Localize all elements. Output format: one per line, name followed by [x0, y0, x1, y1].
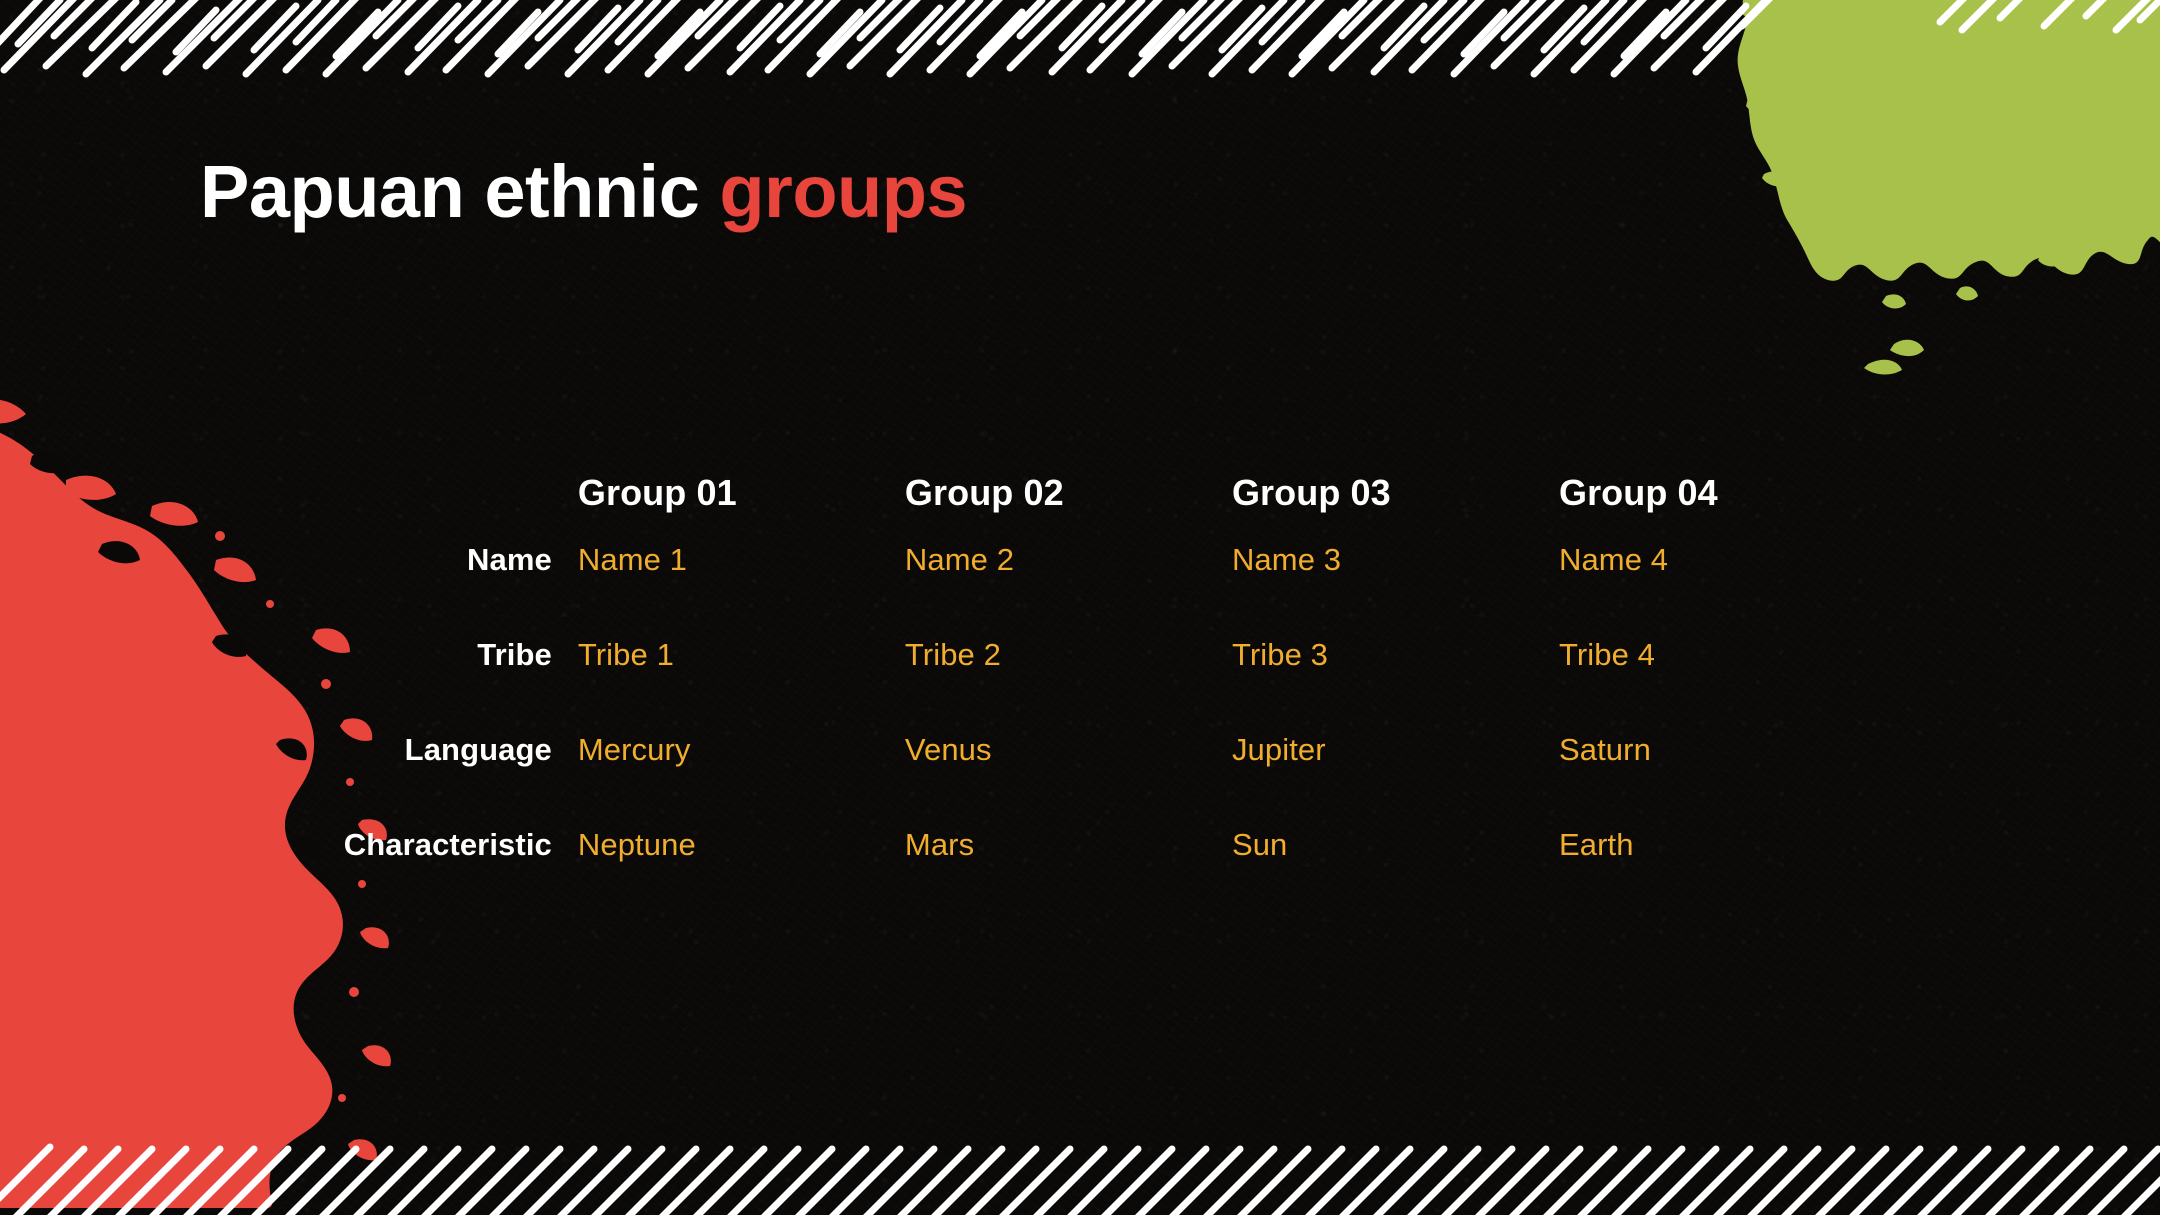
- cell-characteristic-group-04: Earth: [1559, 827, 1886, 863]
- table-row: Characteristic Neptune Mars Sun Earth: [246, 827, 1886, 921]
- column-header-group-01: Group 01: [578, 472, 905, 514]
- green-brush-stroke: [1708, 0, 2160, 408]
- cell-language-group-04: Saturn: [1559, 732, 1886, 768]
- cell-tribe-group-03: Tribe 3: [1232, 637, 1559, 673]
- cell-tribe-group-02: Tribe 2: [905, 637, 1232, 673]
- cell-language-group-03: Jupiter: [1232, 732, 1559, 768]
- row-label-name: Name: [246, 542, 578, 578]
- page-title-plain: Papuan ethnic: [200, 150, 719, 233]
- cell-characteristic-group-02: Mars: [905, 827, 1232, 863]
- column-header-group-02: Group 02: [905, 472, 1232, 514]
- cell-tribe-group-04: Tribe 4: [1559, 637, 1886, 673]
- slide-canvas: Papuan ethnic groups Group 01 Group 02 G…: [0, 0, 2160, 1215]
- cell-name-group-04: Name 4: [1559, 542, 1886, 578]
- row-label-tribe: Tribe: [246, 637, 578, 673]
- cell-name-group-02: Name 2: [905, 542, 1232, 578]
- column-header-group-03: Group 03: [1232, 472, 1559, 514]
- bottom-hatch-border: [0, 1139, 2160, 1215]
- cell-language-group-02: Venus: [905, 732, 1232, 768]
- column-header-group-04: Group 04: [1559, 472, 1886, 514]
- cell-characteristic-group-01: Neptune: [578, 827, 905, 863]
- row-label-language: Language: [246, 732, 578, 768]
- table-row: Tribe Tribe 1 Tribe 2 Tribe 3 Tribe 4: [246, 637, 1886, 731]
- row-label-characteristic: Characteristic: [246, 827, 578, 863]
- top-hatch-border: [0, 0, 2160, 78]
- cell-language-group-01: Mercury: [578, 732, 905, 768]
- table-row: Language Mercury Venus Jupiter Saturn: [246, 732, 1886, 826]
- page-title: Papuan ethnic groups: [200, 155, 967, 229]
- cell-name-group-01: Name 1: [578, 542, 905, 578]
- cell-tribe-group-01: Tribe 1: [578, 637, 905, 673]
- page-title-accent: groups: [719, 150, 967, 233]
- table-row: Name Name 1 Name 2 Name 3 Name 4: [246, 542, 1886, 636]
- table-header-row: Group 01 Group 02 Group 03 Group 04: [246, 472, 1886, 514]
- cell-characteristic-group-03: Sun: [1232, 827, 1559, 863]
- ethnic-groups-table: Group 01 Group 02 Group 03 Group 04 Name…: [246, 472, 1886, 922]
- cell-name-group-03: Name 3: [1232, 542, 1559, 578]
